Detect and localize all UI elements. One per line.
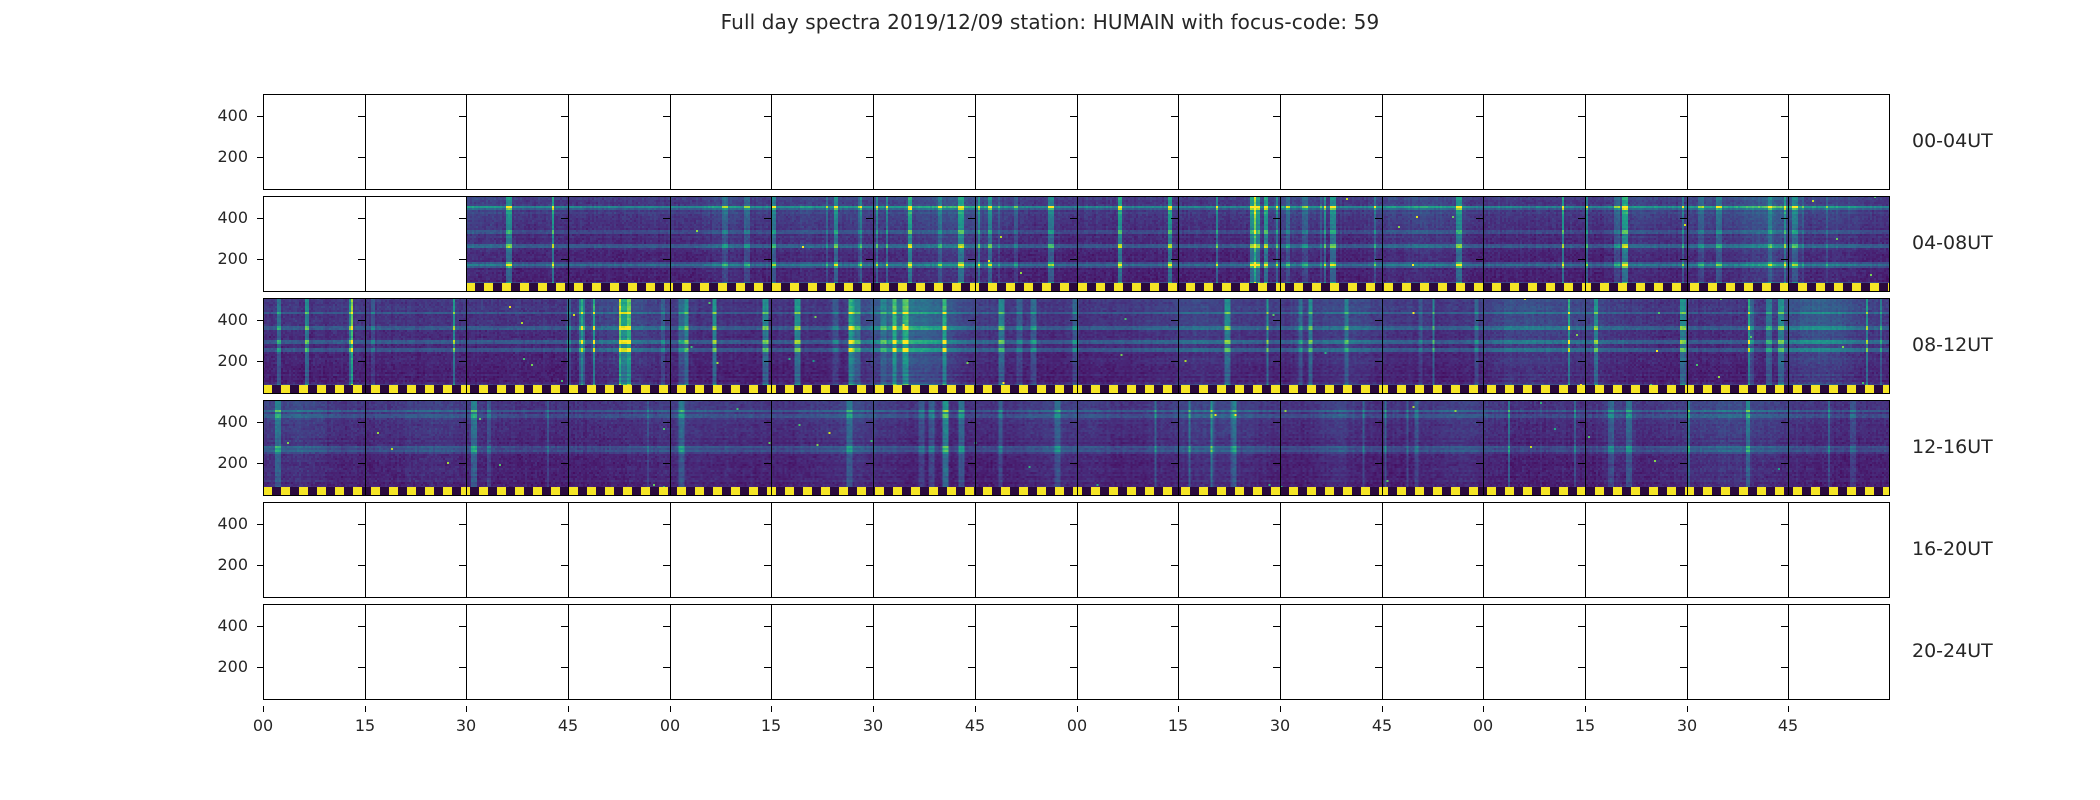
x-axis-tick <box>873 706 874 712</box>
row-time-label: 20-24UT <box>1912 640 1993 662</box>
y-tick-mark <box>1781 218 1788 219</box>
y-tick-mark <box>561 422 568 423</box>
subpanel-separator <box>1585 502 1586 598</box>
subpanel-separator <box>568 94 569 190</box>
x-axis-tick <box>263 706 264 712</box>
y-tick-mark <box>358 524 365 525</box>
y-tick-mark <box>1273 565 1280 566</box>
y-tick-mark <box>968 463 975 464</box>
y-tick-mark <box>1578 361 1585 362</box>
x-axis-tick <box>1585 706 1586 712</box>
y-tick-mark <box>968 422 975 423</box>
subpanel-separator <box>873 400 874 496</box>
x-axis-tick <box>1483 706 1484 712</box>
y-tick-mark <box>1070 259 1077 260</box>
y-tick-mark <box>358 667 365 668</box>
y-tick-mark <box>1578 565 1585 566</box>
row-time-label: 04-08UT <box>1912 232 1993 254</box>
y-tick-mark <box>1680 667 1687 668</box>
y-tick-mark <box>1680 157 1687 158</box>
y-axis-tick <box>257 116 263 117</box>
y-tick-mark <box>866 463 873 464</box>
y-axis-tick-label: 200 <box>188 353 248 369</box>
y-tick-mark <box>459 565 466 566</box>
subpanel-separator <box>1382 400 1383 496</box>
y-tick-mark <box>1476 626 1483 627</box>
y-axis-tick <box>257 667 263 668</box>
subpanel-separator <box>568 298 569 394</box>
y-tick-mark <box>1680 116 1687 117</box>
y-tick-mark <box>358 565 365 566</box>
spectrogram-row-20-24ut[interactable] <box>263 604 1890 700</box>
y-tick-mark <box>663 320 670 321</box>
y-tick-mark <box>1680 565 1687 566</box>
y-tick-mark <box>663 116 670 117</box>
subpanel-separator <box>670 196 671 292</box>
y-tick-mark <box>764 565 771 566</box>
x-axis-tick-label: 15 <box>751 716 791 735</box>
y-axis-tick <box>257 320 263 321</box>
y-tick-mark <box>459 320 466 321</box>
y-tick-mark <box>1273 524 1280 525</box>
subpanel-separator <box>1382 94 1383 190</box>
y-tick-mark <box>1781 463 1788 464</box>
y-tick-mark <box>1070 422 1077 423</box>
subpanel-separator <box>873 94 874 190</box>
y-tick-mark <box>1070 320 1077 321</box>
subpanel-separator <box>1687 196 1688 292</box>
y-tick-mark <box>1680 218 1687 219</box>
subpanel-separator <box>1280 400 1281 496</box>
spectrogram-row-12-16ut[interactable] <box>263 400 1890 496</box>
subpanel-separator <box>975 298 976 394</box>
subpanel-separator <box>466 94 467 190</box>
subpanel-separator <box>365 94 366 190</box>
y-axis-tick-label: 200 <box>188 149 248 165</box>
subpanel-separator <box>1483 502 1484 598</box>
x-axis-tick-label: 15 <box>345 716 385 735</box>
y-tick-mark <box>663 626 670 627</box>
y-tick-mark <box>866 361 873 362</box>
subpanel-separator <box>771 604 772 700</box>
y-tick-mark <box>1375 259 1382 260</box>
subpanel-separator <box>670 604 671 700</box>
y-tick-mark <box>663 218 670 219</box>
subpanel-separator <box>1280 604 1281 700</box>
y-tick-mark <box>663 422 670 423</box>
y-tick-mark <box>358 626 365 627</box>
subpanel-separator <box>1788 94 1789 190</box>
subpanel-separator <box>1077 298 1078 394</box>
y-tick-mark <box>459 259 466 260</box>
subpanel-separator <box>1483 400 1484 496</box>
y-tick-mark <box>358 218 365 219</box>
x-axis-tick <box>1178 706 1179 712</box>
y-axis-tick <box>257 361 263 362</box>
y-tick-mark <box>764 463 771 464</box>
y-tick-mark <box>663 524 670 525</box>
subpanel-separator <box>1585 94 1586 190</box>
y-tick-mark <box>459 524 466 525</box>
y-tick-mark <box>764 524 771 525</box>
y-axis-tick-label: 200 <box>188 455 248 471</box>
y-tick-mark <box>561 116 568 117</box>
y-tick-mark <box>1781 422 1788 423</box>
subpanel-separator <box>1077 196 1078 292</box>
subpanel-separator <box>771 502 772 598</box>
subpanel-separator <box>1178 298 1179 394</box>
y-tick-mark <box>358 422 365 423</box>
y-tick-mark <box>663 565 670 566</box>
subpanel-separator <box>1382 502 1383 598</box>
subpanel-separator <box>466 502 467 598</box>
y-tick-mark <box>358 116 365 117</box>
y-tick-mark <box>1375 157 1382 158</box>
y-tick-mark <box>1171 361 1178 362</box>
y-tick-mark <box>1171 524 1178 525</box>
y-tick-mark <box>561 320 568 321</box>
y-axis-tick <box>257 463 263 464</box>
subpanel-separator <box>1483 94 1484 190</box>
y-tick-mark <box>764 320 771 321</box>
row-time-label: 16-20UT <box>1912 538 1993 560</box>
y-tick-mark <box>561 157 568 158</box>
y-tick-mark <box>663 463 670 464</box>
y-tick-mark <box>1781 626 1788 627</box>
y-axis-tick-label: 200 <box>188 251 248 267</box>
y-tick-mark <box>561 259 568 260</box>
y-tick-mark <box>1680 320 1687 321</box>
subpanel-separator <box>1382 196 1383 292</box>
y-tick-mark <box>561 218 568 219</box>
subpanel-separator <box>365 196 366 292</box>
y-tick-mark <box>1070 116 1077 117</box>
y-tick-mark <box>1476 667 1483 668</box>
y-tick-mark <box>1476 463 1483 464</box>
subpanel-separator <box>1178 196 1179 292</box>
x-axis-tick <box>1687 706 1688 712</box>
y-tick-mark <box>1578 157 1585 158</box>
spectrogram-figure: Full day spectra 2019/12/09 station: HUM… <box>0 0 2100 800</box>
y-tick-mark <box>459 463 466 464</box>
y-axis-label: Plasma frequency [MHz] <box>183 0 209 100</box>
x-axis-tick-label: 45 <box>1768 716 1808 735</box>
y-tick-mark <box>866 422 873 423</box>
subpanel-separator <box>1687 94 1688 190</box>
y-tick-mark <box>764 422 771 423</box>
y-axis-tick <box>257 565 263 566</box>
y-tick-mark <box>764 218 771 219</box>
y-tick-mark <box>866 320 873 321</box>
y-tick-mark <box>1375 361 1382 362</box>
subpanel-separator <box>466 604 467 700</box>
spectrogram-row-00-04ut[interactable] <box>263 94 1890 190</box>
spectrogram-row-16-20ut[interactable] <box>263 502 1890 598</box>
x-axis-tick-label: 00 <box>243 716 283 735</box>
y-tick-mark <box>561 524 568 525</box>
subpanel-separator <box>1483 298 1484 394</box>
y-tick-mark <box>1273 157 1280 158</box>
y-tick-mark <box>1578 463 1585 464</box>
row-time-label: 08-12UT <box>1912 334 1993 356</box>
x-axis-tick-label: 00 <box>1057 716 1097 735</box>
y-tick-mark <box>1171 626 1178 627</box>
y-tick-mark <box>968 524 975 525</box>
subpanel-separator <box>1687 604 1688 700</box>
y-tick-mark <box>1375 116 1382 117</box>
y-tick-mark <box>866 157 873 158</box>
subpanel-separator <box>1178 94 1179 190</box>
y-tick-mark <box>1781 361 1788 362</box>
y-tick-mark <box>1171 116 1178 117</box>
y-tick-mark <box>1578 320 1585 321</box>
y-tick-mark <box>459 157 466 158</box>
y-tick-mark <box>1578 218 1585 219</box>
y-tick-mark <box>459 116 466 117</box>
y-tick-mark <box>1476 259 1483 260</box>
y-tick-mark <box>1070 626 1077 627</box>
subpanel-separator <box>1280 298 1281 394</box>
y-tick-mark <box>459 218 466 219</box>
y-tick-mark <box>1375 667 1382 668</box>
x-axis: 00153045001530450015304500153045 <box>263 706 1890 746</box>
y-axis-tick-label: 400 <box>188 210 248 226</box>
y-tick-mark <box>1273 667 1280 668</box>
subpanel-separator <box>975 400 976 496</box>
y-axis-tick <box>257 422 263 423</box>
y-tick-mark <box>561 361 568 362</box>
y-tick-mark <box>561 667 568 668</box>
y-tick-mark <box>968 565 975 566</box>
subpanel-separator <box>1788 400 1789 496</box>
y-tick-mark <box>358 361 365 362</box>
y-tick-mark <box>1375 626 1382 627</box>
x-axis-tick-label: 15 <box>1565 716 1605 735</box>
y-tick-mark <box>866 667 873 668</box>
subpanel-separator <box>1788 196 1789 292</box>
y-tick-mark <box>1171 422 1178 423</box>
y-tick-mark <box>1680 422 1687 423</box>
y-axis-tick-label: 400 <box>188 108 248 124</box>
subpanel-separator <box>1687 502 1688 598</box>
subpanel-separator <box>568 604 569 700</box>
y-tick-mark <box>1375 320 1382 321</box>
y-tick-mark <box>1171 463 1178 464</box>
subpanel-separator <box>365 502 366 598</box>
subpanel-separator <box>771 400 772 496</box>
y-tick-mark <box>1171 259 1178 260</box>
y-tick-mark <box>1171 320 1178 321</box>
y-axis-tick-label: 400 <box>188 516 248 532</box>
y-tick-mark <box>1781 259 1788 260</box>
y-tick-mark <box>1578 524 1585 525</box>
subpanel-separator <box>1382 298 1383 394</box>
y-tick-mark <box>1781 116 1788 117</box>
subpanel-separator <box>975 604 976 700</box>
row-time-label: 12-16UT <box>1912 436 1993 458</box>
y-tick-mark <box>459 361 466 362</box>
y-tick-mark <box>1171 157 1178 158</box>
y-tick-mark <box>1476 116 1483 117</box>
y-tick-mark <box>1070 218 1077 219</box>
y-tick-mark <box>358 259 365 260</box>
y-tick-mark <box>1781 524 1788 525</box>
y-tick-mark <box>764 116 771 117</box>
y-tick-mark <box>764 259 771 260</box>
subpanel-separator <box>568 502 569 598</box>
y-tick-mark <box>764 157 771 158</box>
y-tick-mark <box>1476 157 1483 158</box>
subpanel-separator <box>1077 94 1078 190</box>
y-tick-mark <box>1070 463 1077 464</box>
subpanel-separator <box>670 502 671 598</box>
y-tick-mark <box>1680 524 1687 525</box>
subpanel-separator <box>873 298 874 394</box>
x-axis-tick <box>1788 706 1789 712</box>
x-axis-tick-label: 00 <box>1463 716 1503 735</box>
subpanel-separator <box>1585 604 1586 700</box>
subpanel-separator <box>365 298 366 394</box>
subpanel-separator <box>1788 298 1789 394</box>
y-tick-mark <box>1273 422 1280 423</box>
subpanel-separator <box>1585 298 1586 394</box>
subpanel-separator <box>1585 400 1586 496</box>
y-tick-mark <box>968 361 975 362</box>
y-tick-mark <box>968 116 975 117</box>
x-axis-tick <box>771 706 772 712</box>
y-axis-tick <box>257 259 263 260</box>
y-tick-mark <box>866 259 873 260</box>
y-tick-mark <box>1476 524 1483 525</box>
subpanel-separator <box>1483 196 1484 292</box>
y-tick-mark <box>866 524 873 525</box>
x-axis-tick <box>1382 706 1383 712</box>
x-axis-tick-label: 00 <box>650 716 690 735</box>
subpanel-separator <box>1280 502 1281 598</box>
x-axis-tick-label: 30 <box>1260 716 1300 735</box>
x-axis-tick-label: 30 <box>853 716 893 735</box>
subpanel-separator <box>670 298 671 394</box>
page-title: Full day spectra 2019/12/09 station: HUM… <box>0 10 2100 34</box>
x-axis-tick <box>670 706 671 712</box>
y-tick-mark <box>358 320 365 321</box>
x-axis-tick <box>1077 706 1078 712</box>
subpanel-separator <box>365 400 366 496</box>
y-tick-mark <box>663 361 670 362</box>
y-tick-mark <box>866 626 873 627</box>
y-tick-mark <box>1273 361 1280 362</box>
y-tick-mark <box>1070 157 1077 158</box>
subpanel-separator <box>771 298 772 394</box>
x-axis-tick <box>975 706 976 712</box>
y-axis-tick-label: 200 <box>188 659 248 675</box>
x-axis-tick <box>568 706 569 712</box>
x-axis-tick-label: 30 <box>446 716 486 735</box>
subpanel-separator <box>873 196 874 292</box>
y-tick-mark <box>1781 565 1788 566</box>
subpanel-separator <box>466 196 467 292</box>
subpanel-separator <box>466 400 467 496</box>
y-tick-mark <box>561 626 568 627</box>
y-tick-mark <box>1578 422 1585 423</box>
y-tick-mark <box>1171 565 1178 566</box>
y-tick-mark <box>764 626 771 627</box>
y-tick-mark <box>358 157 365 158</box>
y-axis-tick-label: 400 <box>188 414 248 430</box>
y-tick-mark <box>1476 218 1483 219</box>
y-axis-tick-label: 400 <box>188 618 248 634</box>
y-tick-mark <box>663 157 670 158</box>
subpanel-separator <box>771 94 772 190</box>
spectrogram-row-08-12ut[interactable] <box>263 298 1890 394</box>
y-tick-mark <box>1375 565 1382 566</box>
y-axis-tick <box>257 626 263 627</box>
subpanel-separator <box>975 502 976 598</box>
x-axis-tick <box>365 706 366 712</box>
y-tick-mark <box>1578 116 1585 117</box>
y-tick-mark <box>764 667 771 668</box>
y-tick-mark <box>459 667 466 668</box>
x-axis-tick-label: 45 <box>548 716 588 735</box>
subpanel-separator <box>1687 400 1688 496</box>
subpanel-separator <box>1077 604 1078 700</box>
y-tick-mark <box>968 218 975 219</box>
x-axis-tick <box>466 706 467 712</box>
subpanel-separator <box>771 196 772 292</box>
x-axis-tick-label: 45 <box>955 716 995 735</box>
y-tick-mark <box>1680 463 1687 464</box>
y-tick-mark <box>1476 320 1483 321</box>
x-axis-tick-label: 30 <box>1667 716 1707 735</box>
y-tick-mark <box>968 667 975 668</box>
y-tick-mark <box>968 157 975 158</box>
y-tick-mark <box>1578 667 1585 668</box>
y-tick-mark <box>1476 422 1483 423</box>
y-tick-mark <box>1781 157 1788 158</box>
x-axis-tick-label: 15 <box>1158 716 1198 735</box>
y-tick-mark <box>459 626 466 627</box>
y-tick-mark <box>1171 218 1178 219</box>
spectrogram-row-04-08ut[interactable] <box>263 196 1890 292</box>
subpanel-separator <box>1382 604 1383 700</box>
y-axis-tick-label: 400 <box>188 312 248 328</box>
y-tick-mark <box>1273 320 1280 321</box>
y-tick-mark <box>1578 259 1585 260</box>
y-tick-mark <box>1171 667 1178 668</box>
x-axis-tick <box>1280 706 1281 712</box>
subpanel-separator <box>1483 604 1484 700</box>
y-tick-mark <box>1375 218 1382 219</box>
subpanel-separator <box>670 94 671 190</box>
y-tick-mark <box>968 626 975 627</box>
y-tick-mark <box>1273 463 1280 464</box>
subpanel-separator <box>466 298 467 394</box>
subpanel-separator <box>1280 196 1281 292</box>
y-tick-mark <box>866 116 873 117</box>
subpanel-separator <box>1178 502 1179 598</box>
subpanel-separator <box>1687 298 1688 394</box>
y-tick-mark <box>866 218 873 219</box>
y-tick-mark <box>1781 320 1788 321</box>
y-axis-tick-label: 200 <box>188 557 248 573</box>
y-tick-mark <box>1680 361 1687 362</box>
subpanel-separator <box>568 196 569 292</box>
y-tick-mark <box>866 565 873 566</box>
y-tick-mark <box>1375 524 1382 525</box>
y-tick-mark <box>968 259 975 260</box>
subpanel-separator <box>1178 400 1179 496</box>
y-tick-mark <box>1273 218 1280 219</box>
